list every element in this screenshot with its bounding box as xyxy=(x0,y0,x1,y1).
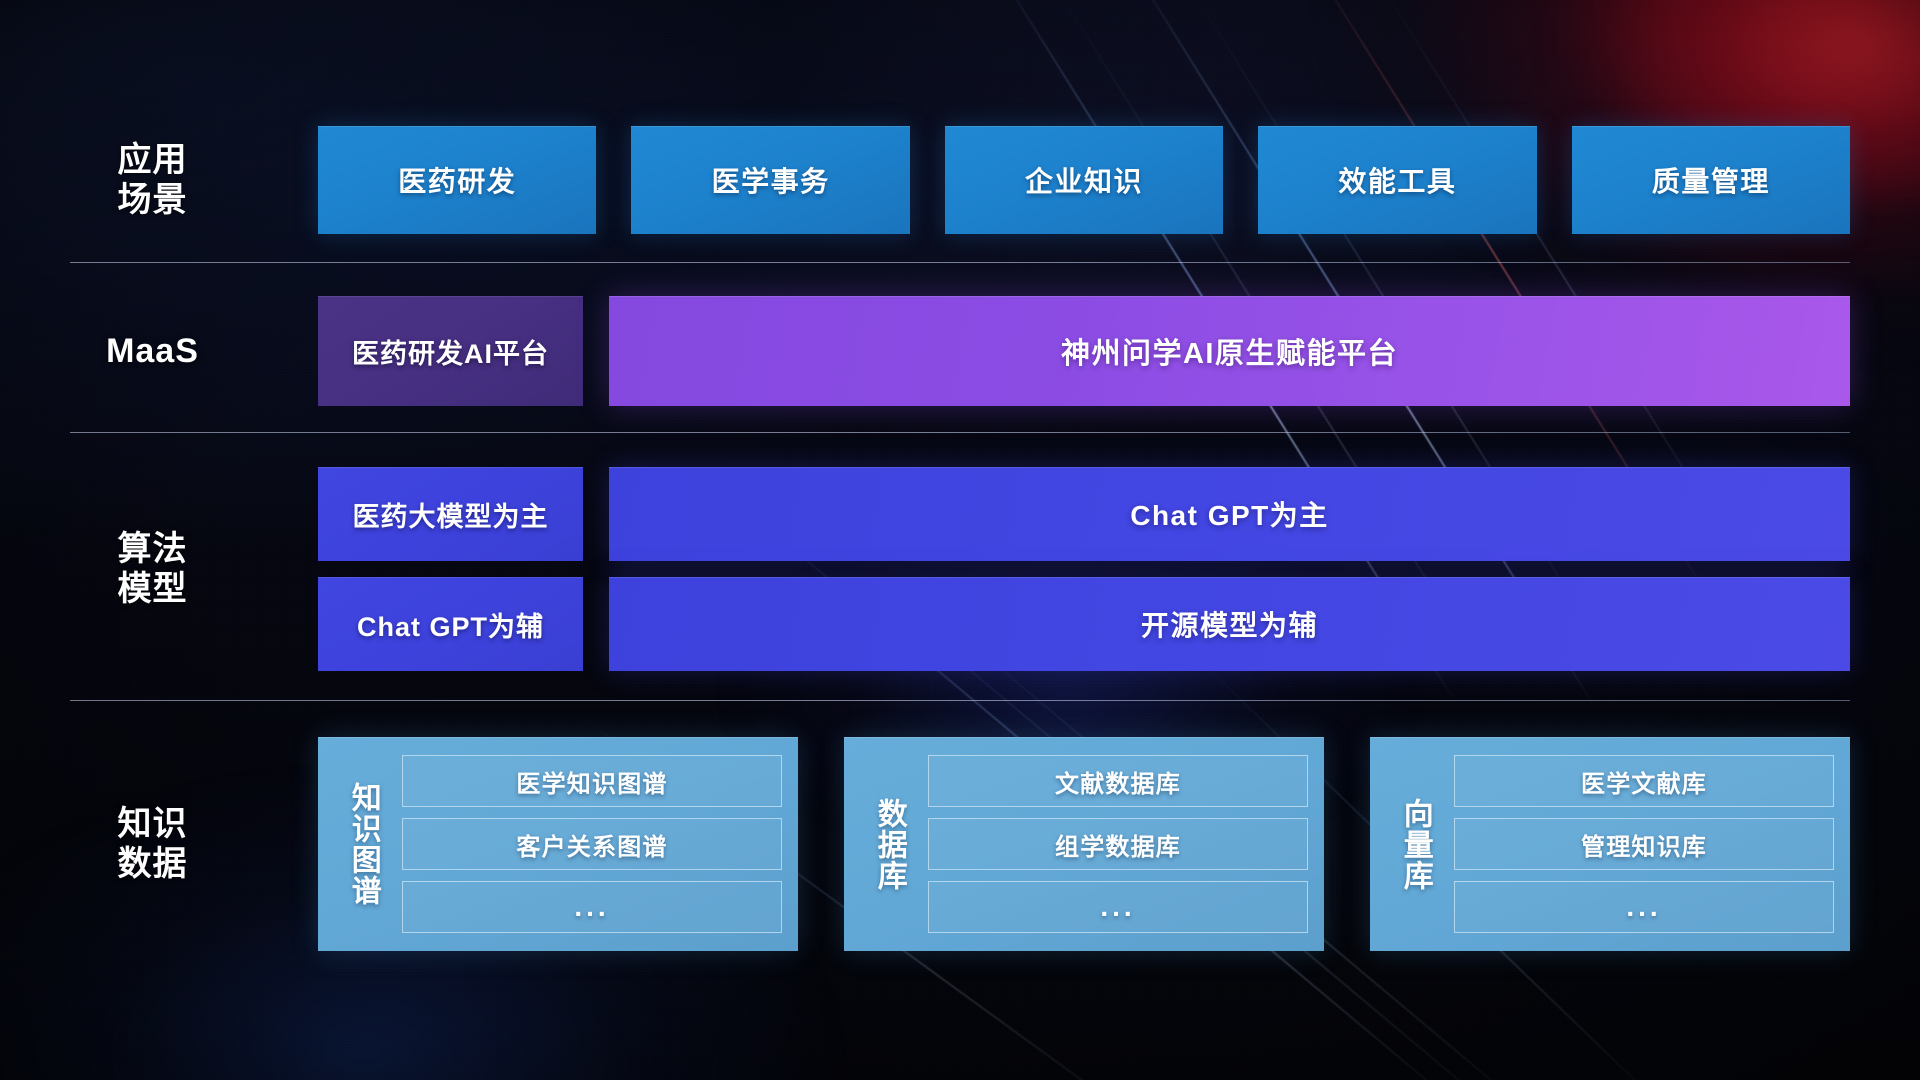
application-card-list: 医药研发 医学事务 企业知识 效能工具 质量管理 xyxy=(235,126,1850,234)
algorithm-card-chatgpt-primary[interactable]: Chat GPT为主 xyxy=(609,467,1850,561)
row-application-scenarios: 应用 场景 医药研发 医学事务 企业知识 效能工具 质量管理 xyxy=(70,126,1850,234)
divider-maas-algorithms xyxy=(70,432,1850,433)
algorithm-card-pharma-primary[interactable]: 医药大模型为主 xyxy=(318,467,583,561)
row-algorithm-models: 算法 模型 医药大模型为主 Chat GPT为主 Chat GPT为辅 开源模型… xyxy=(70,464,1850,674)
row-label-knowledge-data: 知识 数据 xyxy=(70,804,235,884)
application-card[interactable]: 医学事务 xyxy=(631,126,909,234)
maas-card-enabling-platform[interactable]: 神州问学AI原生赋能平台 xyxy=(609,296,1850,406)
knowledge-item[interactable]: 客户关系图谱 xyxy=(402,818,782,870)
knowledge-item[interactable]: 组学数据库 xyxy=(928,818,1308,870)
diagram-content: 应用 场景 医药研发 医学事务 企业知识 效能工具 质量管理 MaaS 医药研发… xyxy=(0,0,1920,1080)
algorithm-line-secondary: Chat GPT为辅 开源模型为辅 xyxy=(318,577,1850,671)
maas-card-pharma-platform[interactable]: 医药研发AI平台 xyxy=(318,296,583,406)
knowledge-group-graph[interactable]: 知识图谱 医学知识图谱 客户关系图谱 ... xyxy=(318,737,798,951)
application-card[interactable]: 质量管理 xyxy=(1572,126,1850,234)
knowledge-item-more[interactable]: ... xyxy=(1454,881,1834,933)
row-label-maas: MaaS xyxy=(70,331,235,371)
divider-algorithms-knowledge xyxy=(70,700,1850,701)
application-card[interactable]: 效能工具 xyxy=(1258,126,1536,234)
algorithm-line-primary: 医药大模型为主 Chat GPT为主 xyxy=(318,467,1850,561)
knowledge-item-list: 文献数据库 组学数据库 ... xyxy=(918,755,1308,933)
slide-canvas: 应用 场景 医药研发 医学事务 企业知识 效能工具 质量管理 MaaS 医药研发… xyxy=(0,0,1920,1080)
row-label-application-scenarios: 应用 场景 xyxy=(70,140,235,220)
application-card[interactable]: 医药研发 xyxy=(318,126,596,234)
knowledge-item[interactable]: 管理知识库 xyxy=(1454,818,1834,870)
row-knowledge-data: 知识 数据 知识图谱 医学知识图谱 客户关系图谱 ... 数据库 文献数据库 组… xyxy=(70,718,1850,970)
divider-applications-maas xyxy=(70,262,1850,263)
row-maas: MaaS 医药研发AI平台 神州问学AI原生赋能平台 xyxy=(70,296,1850,406)
knowledge-group-vector[interactable]: 向量库 医学文献库 管理知识库 ... xyxy=(1370,737,1850,951)
algorithm-card-chatgpt-secondary[interactable]: Chat GPT为辅 xyxy=(318,577,583,671)
knowledge-item-list: 医学文献库 管理知识库 ... xyxy=(1444,755,1834,933)
knowledge-group-title: 向量库 xyxy=(1386,755,1444,933)
knowledge-group-title: 数据库 xyxy=(860,755,918,933)
application-card[interactable]: 企业知识 xyxy=(945,126,1223,234)
knowledge-group-list: 知识图谱 医学知识图谱 客户关系图谱 ... 数据库 文献数据库 组学数据库 .… xyxy=(235,737,1850,951)
knowledge-group-database[interactable]: 数据库 文献数据库 组学数据库 ... xyxy=(844,737,1324,951)
algorithm-card-stack: 医药大模型为主 Chat GPT为主 Chat GPT为辅 开源模型为辅 xyxy=(235,467,1850,671)
maas-card-list: 医药研发AI平台 神州问学AI原生赋能平台 xyxy=(235,296,1850,406)
knowledge-group-title: 知识图谱 xyxy=(334,755,392,933)
knowledge-item[interactable]: 医学知识图谱 xyxy=(402,755,782,807)
knowledge-item[interactable]: 医学文献库 xyxy=(1454,755,1834,807)
knowledge-item-more[interactable]: ... xyxy=(402,881,782,933)
row-label-algorithm-models: 算法 模型 xyxy=(70,529,235,609)
knowledge-item-list: 医学知识图谱 客户关系图谱 ... xyxy=(392,755,782,933)
knowledge-item[interactable]: 文献数据库 xyxy=(928,755,1308,807)
knowledge-item-more[interactable]: ... xyxy=(928,881,1308,933)
algorithm-card-opensource-secondary[interactable]: 开源模型为辅 xyxy=(609,577,1850,671)
